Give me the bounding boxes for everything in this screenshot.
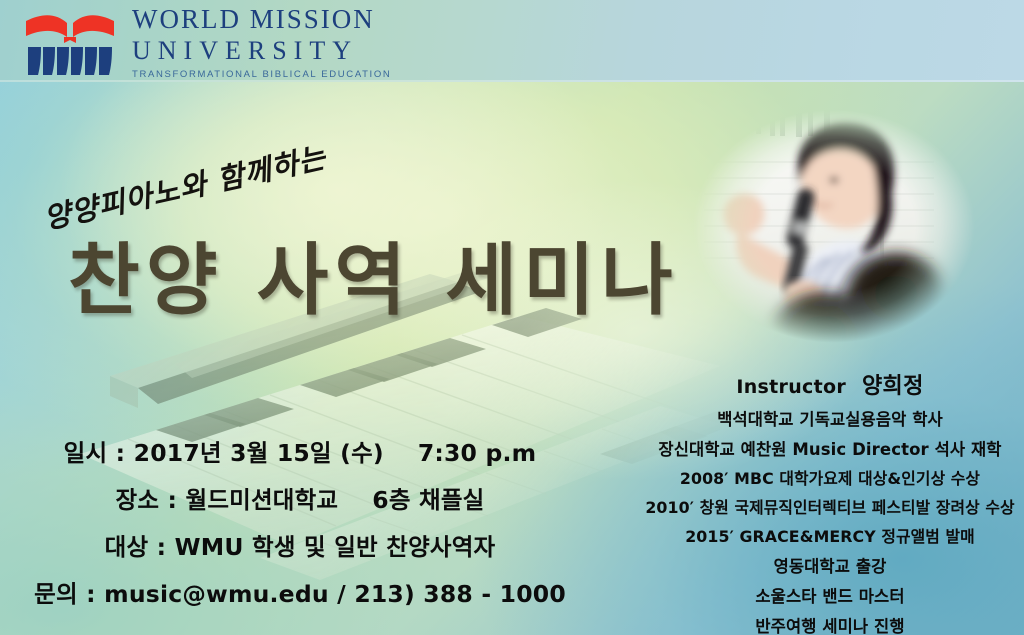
credential-item: 2015′ GRACE&MERCY 정규앨범 발매 (685, 524, 975, 547)
open-book-icon (22, 7, 118, 79)
detail-value-contact[interactable]: music@wmu.edu / 213) 388 - 1000 (104, 580, 566, 608)
detail-extra-date: 7:30 p.m (418, 439, 536, 467)
credential-item: 장신대학교 예찬원 Music Director 석사 재학 (658, 436, 1001, 460)
credential-item: 영동대학교 출강 (774, 553, 887, 577)
credential-item: 2008′ MBC 대학가요제 대상&인기상 수상 (680, 466, 980, 489)
credential-item: 백석대학교 기독교실용음악 학사 (717, 406, 943, 430)
detail-extra-place: 6층 채플실 (372, 486, 484, 514)
detail-row-place: 장소 : 월드미션대학교6층 채플실 (0, 481, 600, 515)
credential-item: 반주여행 세미나 진행 (755, 613, 904, 635)
detail-row-audience: 대상 : WMU 학생 및 일반 찬양사역자 (0, 528, 600, 562)
logo-line-two: UNIVERSITY (132, 38, 391, 64)
instructor-role-label: Instructor (736, 376, 846, 398)
detail-row-date: 일시 : 2017년 3월 15일 (수)7:30 p.m (0, 434, 600, 468)
university-logo: WORLD MISSION UNIVERSITY TRANSFORMATIONA… (22, 6, 391, 80)
detail-label-place: 장소 (116, 486, 160, 514)
page-title: 찬양 사역 세미나 (68, 218, 679, 330)
credential-item: 소울스타 밴드 마스터 (755, 583, 904, 607)
detail-label-contact: 문의 (34, 580, 78, 608)
credential-item: 2010′ 창원 국제뮤직인터렉티브 페스티발 장려상 수상 (645, 495, 1014, 518)
instructor-name: 양희정 (862, 374, 924, 399)
detail-value-audience: WMU 학생 및 일반 찬양사역자 (175, 533, 496, 561)
detail-value-date: 2017년 3월 15일 (수) (134, 439, 384, 467)
speaker-photo-icon (684, 102, 984, 350)
detail-label-date: 일시 (64, 439, 108, 467)
instructor-profile: Instructor양희정 백석대학교 기독교실용음악 학사 장신대학교 예찬원… (636, 368, 1024, 635)
seminar-poster: WORLD MISSION UNIVERSITY TRANSFORMATIONA… (0, 0, 1024, 635)
instructor-heading: Instructor양희정 (736, 368, 923, 400)
detail-row-contact[interactable]: 문의 : music@wmu.edu / 213) 388 - 1000 (0, 575, 600, 609)
event-details: 일시 : 2017년 3월 15일 (수)7:30 p.m 장소 : 월드미션대… (0, 434, 600, 609)
logo-line-one: WORLD MISSION (132, 6, 391, 33)
detail-label-audience: 대상 (105, 533, 149, 561)
logo-tagline: TRANSFORMATIONAL BIBLICAL EDUCATION (132, 70, 391, 80)
detail-value-place: 월드미션대학교 (186, 486, 339, 514)
